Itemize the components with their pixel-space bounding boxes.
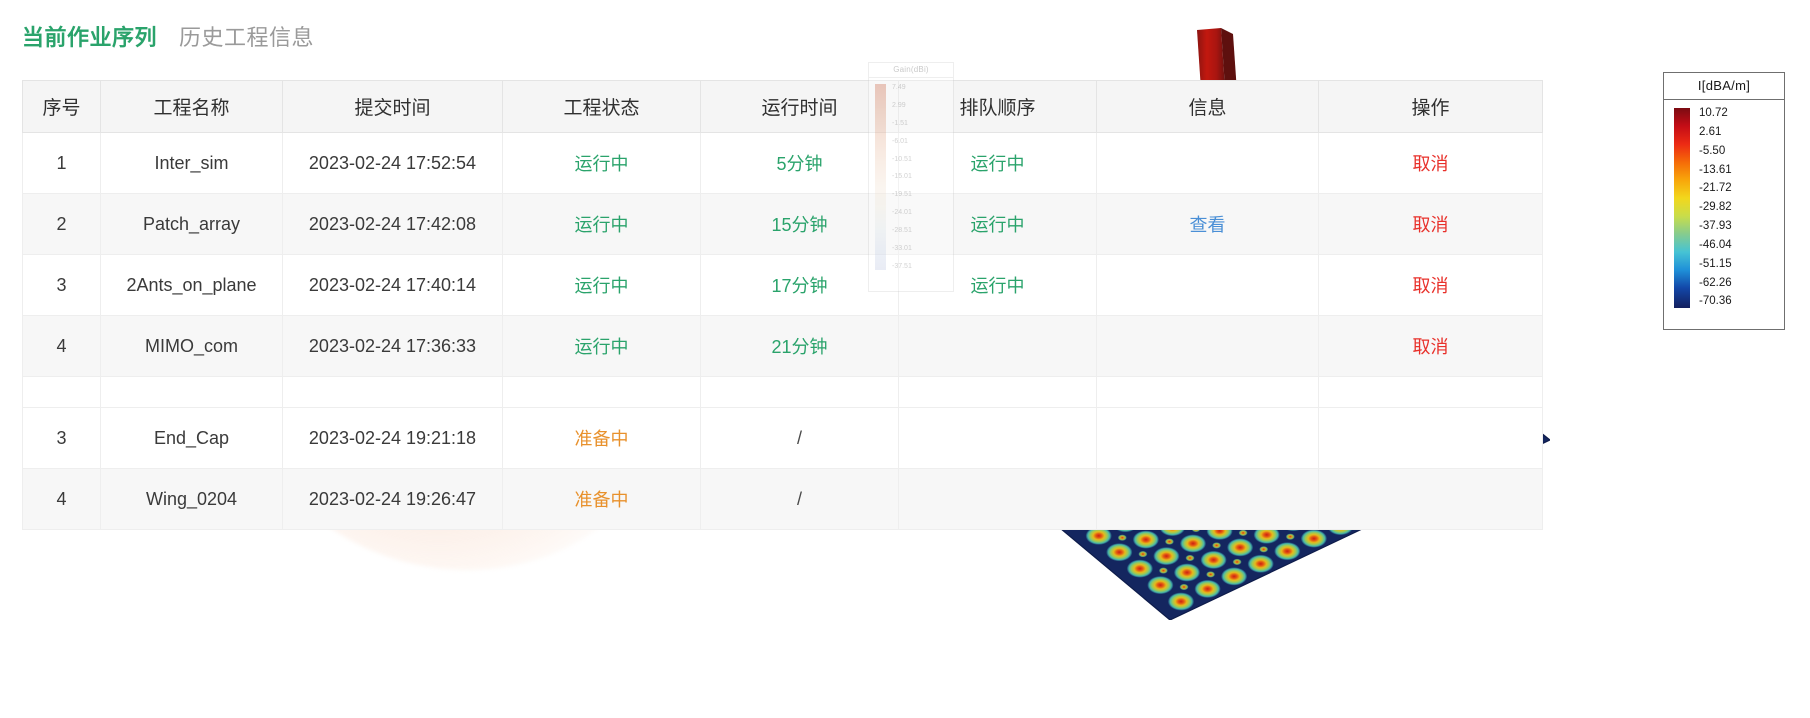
cell-project-name-text: Patch_array bbox=[143, 214, 240, 234]
cell-runtime-text: 21分钟 bbox=[771, 337, 827, 357]
table-spacer-row bbox=[23, 377, 1543, 408]
cell-project-name: Inter_sim bbox=[101, 133, 283, 194]
cell-submit-time: 2023-02-24 17:52:54 bbox=[283, 133, 503, 194]
col-header-index: 序号 bbox=[23, 81, 101, 133]
cell-info-link bbox=[1097, 133, 1319, 194]
gain-tick: -15.01 bbox=[892, 173, 912, 180]
gain-tick: 2.99 bbox=[892, 102, 912, 109]
current-colorbar-gradient bbox=[1674, 108, 1690, 308]
cell-queue-order-text: 运行中 bbox=[971, 154, 1025, 174]
gain-tick: 7.49 bbox=[892, 84, 912, 91]
cell-index-text: 3 bbox=[56, 275, 66, 295]
cell-action-cancel bbox=[1319, 408, 1543, 469]
cell-info-link bbox=[1097, 316, 1319, 377]
cell-status: 运行中 bbox=[503, 255, 701, 316]
cell-submit-time-text: 2023-02-24 17:40:14 bbox=[309, 275, 476, 295]
col-header-submit-time: 提交时间 bbox=[283, 81, 503, 133]
spacer-cell bbox=[1097, 377, 1319, 408]
current-tick: 10.72 bbox=[1699, 108, 1732, 120]
cell-submit-time-text: 2023-02-24 19:21:18 bbox=[309, 428, 476, 448]
gain-tick: -24.01 bbox=[892, 209, 912, 216]
cell-action-cancel-text[interactable]: 取消 bbox=[1413, 215, 1449, 235]
cell-runtime-text: / bbox=[797, 428, 802, 448]
gain-colorbar-ticks: 7.49 2.99 -1.51 -6.01 -10.51 -15.01 -19.… bbox=[892, 84, 912, 270]
gain-tick: -10.51 bbox=[892, 156, 912, 163]
tab-current-job-queue[interactable]: 当前作业序列 bbox=[22, 20, 157, 52]
cell-index-text: 2 bbox=[56, 214, 66, 234]
cell-submit-time-text: 2023-02-24 17:36:33 bbox=[309, 336, 476, 356]
cell-submit-time: 2023-02-24 19:26:47 bbox=[283, 469, 503, 530]
current-tick: -70.36 bbox=[1699, 296, 1732, 308]
tab-history-project-info[interactable]: 历史工程信息 bbox=[179, 20, 314, 52]
gain-colorbar-gradient bbox=[875, 84, 886, 270]
spacer-cell bbox=[1319, 377, 1543, 408]
cell-status-text: 运行中 bbox=[575, 215, 629, 235]
cell-status: 准备中 bbox=[503, 408, 701, 469]
gain-colorbar-body: 7.49 2.99 -1.51 -6.01 -10.51 -15.01 -19.… bbox=[869, 78, 953, 274]
cell-action-cancel-text[interactable]: 取消 bbox=[1413, 337, 1449, 357]
cell-index: 1 bbox=[23, 133, 101, 194]
cell-status: 运行中 bbox=[503, 133, 701, 194]
cell-project-name: Wing_0204 bbox=[101, 469, 283, 530]
current-density-colorbar: I[dBA/m] 10.72 2.61 -5.50 -13.61 -21.72 … bbox=[1663, 72, 1785, 330]
cell-info-link bbox=[1097, 255, 1319, 316]
cell-submit-time-text: 2023-02-24 19:26:47 bbox=[309, 489, 476, 509]
cell-status-text: 运行中 bbox=[575, 154, 629, 174]
cell-action-cancel[interactable]: 取消 bbox=[1319, 316, 1543, 377]
cell-action-cancel bbox=[1319, 469, 1543, 530]
col-header-status: 工程状态 bbox=[503, 81, 701, 133]
col-header-info: 信息 bbox=[1097, 81, 1319, 133]
tab-bar: 当前作业序列 历史工程信息 bbox=[22, 20, 314, 52]
job-table-header-row: 序号 工程名称 提交时间 工程状态 运行时间 排队顺序 信息 操作 bbox=[23, 81, 1543, 133]
col-header-action: 操作 bbox=[1319, 81, 1543, 133]
gain-tick: -37.51 bbox=[892, 263, 912, 270]
current-tick: 2.61 bbox=[1699, 127, 1732, 139]
spacer-cell bbox=[101, 377, 283, 408]
cell-project-name: Patch_array bbox=[101, 194, 283, 255]
current-tick: -5.50 bbox=[1699, 146, 1732, 158]
cell-submit-time: 2023-02-24 17:42:08 bbox=[283, 194, 503, 255]
cell-index: 3 bbox=[23, 255, 101, 316]
cell-project-name: End_Cap bbox=[101, 408, 283, 469]
cell-index: 2 bbox=[23, 194, 101, 255]
current-tick: -21.72 bbox=[1699, 183, 1732, 195]
current-colorbar-body: 10.72 2.61 -5.50 -13.61 -21.72 -29.82 -3… bbox=[1664, 100, 1784, 314]
cell-runtime-text: 5分钟 bbox=[776, 154, 822, 174]
table-row: 2Patch_array2023-02-24 17:42:08运行中15分钟运行… bbox=[23, 194, 1543, 255]
table-row: 3End_Cap2023-02-24 19:21:18准备中/ bbox=[23, 408, 1543, 469]
current-tick: -29.82 bbox=[1699, 202, 1732, 214]
cell-action-cancel[interactable]: 取消 bbox=[1319, 255, 1543, 316]
table-row: 32Ants_on_plane2023-02-24 17:40:14运行中17分… bbox=[23, 255, 1543, 316]
spacer-cell bbox=[701, 377, 899, 408]
cell-runtime: 21分钟 bbox=[701, 316, 899, 377]
current-colorbar-ticks: 10.72 2.61 -5.50 -13.61 -21.72 -29.82 -3… bbox=[1699, 108, 1732, 308]
current-tick: -62.26 bbox=[1699, 278, 1732, 290]
cell-info-link bbox=[1097, 408, 1319, 469]
gain-colorbar-title: Gain(dBi) bbox=[869, 63, 953, 78]
cell-status: 运行中 bbox=[503, 194, 701, 255]
spacer-cell bbox=[23, 377, 101, 408]
cell-queue-order-text: 运行中 bbox=[971, 215, 1025, 235]
cell-submit-time: 2023-02-24 17:40:14 bbox=[283, 255, 503, 316]
cell-info-link bbox=[1097, 469, 1319, 530]
cell-submit-time-text: 2023-02-24 17:42:08 bbox=[309, 214, 476, 234]
cell-action-cancel-text[interactable]: 取消 bbox=[1413, 276, 1449, 296]
cell-queue-order bbox=[899, 469, 1097, 530]
cell-index: 3 bbox=[23, 408, 101, 469]
cell-submit-time: 2023-02-24 19:21:18 bbox=[283, 408, 503, 469]
job-table-container: 序号 工程名称 提交时间 工程状态 运行时间 排队顺序 信息 操作 1Inter… bbox=[22, 80, 1542, 530]
cell-status-text: 运行中 bbox=[575, 276, 629, 296]
job-table-body: 1Inter_sim2023-02-24 17:52:54运行中5分钟运行中取消… bbox=[23, 133, 1543, 530]
cell-runtime: / bbox=[701, 469, 899, 530]
cell-status: 准备中 bbox=[503, 469, 701, 530]
cell-status: 运行中 bbox=[503, 316, 701, 377]
cell-index-text: 4 bbox=[56, 489, 66, 509]
cell-runtime: / bbox=[701, 408, 899, 469]
table-row: 4MIMO_com2023-02-24 17:36:33运行中21分钟取消 bbox=[23, 316, 1543, 377]
current-colorbar-title: I[dBA/m] bbox=[1664, 73, 1784, 100]
cell-project-name-text: Wing_0204 bbox=[146, 489, 237, 509]
job-table: 序号 工程名称 提交时间 工程状态 运行时间 排队顺序 信息 操作 1Inter… bbox=[22, 80, 1543, 530]
job-queue-page: Gain(dBi) 7.49 2.99 -1.51 -6.01 -10.51 -… bbox=[0, 0, 1810, 718]
gain-tick: -6.01 bbox=[892, 138, 912, 145]
gain-tick: -1.51 bbox=[892, 120, 912, 127]
cell-project-name-text: MIMO_com bbox=[145, 336, 238, 356]
gain-tick: -28.51 bbox=[892, 227, 912, 234]
current-tick: -46.04 bbox=[1699, 240, 1732, 252]
cell-status-text: 准备中 bbox=[575, 490, 629, 510]
cell-runtime-text: 17分钟 bbox=[771, 276, 827, 296]
cell-submit-time: 2023-02-24 17:36:33 bbox=[283, 316, 503, 377]
gain-tick: -19.51 bbox=[892, 191, 912, 198]
col-header-name: 工程名称 bbox=[101, 81, 283, 133]
cell-project-name: MIMO_com bbox=[101, 316, 283, 377]
cell-info-link[interactable]: 查看 bbox=[1097, 194, 1319, 255]
cell-submit-time-text: 2023-02-24 17:52:54 bbox=[309, 153, 476, 173]
cell-queue-order bbox=[899, 316, 1097, 377]
cell-index-text: 1 bbox=[56, 153, 66, 173]
cell-project-name-text: End_Cap bbox=[154, 428, 229, 448]
gain-colorbar-overlay: Gain(dBi) 7.49 2.99 -1.51 -6.01 -10.51 -… bbox=[868, 62, 954, 292]
cell-info-link-text[interactable]: 查看 bbox=[1190, 215, 1226, 235]
cell-status-text: 准备中 bbox=[575, 429, 629, 449]
current-tick: -37.93 bbox=[1699, 221, 1732, 233]
cell-action-cancel[interactable]: 取消 bbox=[1319, 194, 1543, 255]
gain-tick: -33.01 bbox=[892, 245, 912, 252]
cell-queue-order-text: 运行中 bbox=[971, 276, 1025, 296]
cell-project-name-text: 2Ants_on_plane bbox=[126, 275, 256, 295]
cell-index: 4 bbox=[23, 316, 101, 377]
cell-action-cancel[interactable]: 取消 bbox=[1319, 133, 1543, 194]
cell-index-text: 4 bbox=[56, 336, 66, 356]
current-tick: -51.15 bbox=[1699, 259, 1732, 271]
job-table-head: 序号 工程名称 提交时间 工程状态 运行时间 排队顺序 信息 操作 bbox=[23, 81, 1543, 133]
table-row: 4Wing_02042023-02-24 19:26:47准备中/ bbox=[23, 469, 1543, 530]
cell-project-name: 2Ants_on_plane bbox=[101, 255, 283, 316]
cell-queue-order bbox=[899, 408, 1097, 469]
cell-status-text: 运行中 bbox=[575, 337, 629, 357]
cell-action-cancel-text[interactable]: 取消 bbox=[1413, 154, 1449, 174]
cell-runtime-text: / bbox=[797, 489, 802, 509]
cell-project-name-text: Inter_sim bbox=[154, 153, 228, 173]
cell-index: 4 bbox=[23, 469, 101, 530]
cell-index-text: 3 bbox=[56, 428, 66, 448]
current-tick: -13.61 bbox=[1699, 165, 1732, 177]
cell-runtime-text: 15分钟 bbox=[771, 215, 827, 235]
table-row: 1Inter_sim2023-02-24 17:52:54运行中5分钟运行中取消 bbox=[23, 133, 1543, 194]
spacer-cell bbox=[283, 377, 503, 408]
spacer-cell bbox=[899, 377, 1097, 408]
spacer-cell bbox=[503, 377, 701, 408]
